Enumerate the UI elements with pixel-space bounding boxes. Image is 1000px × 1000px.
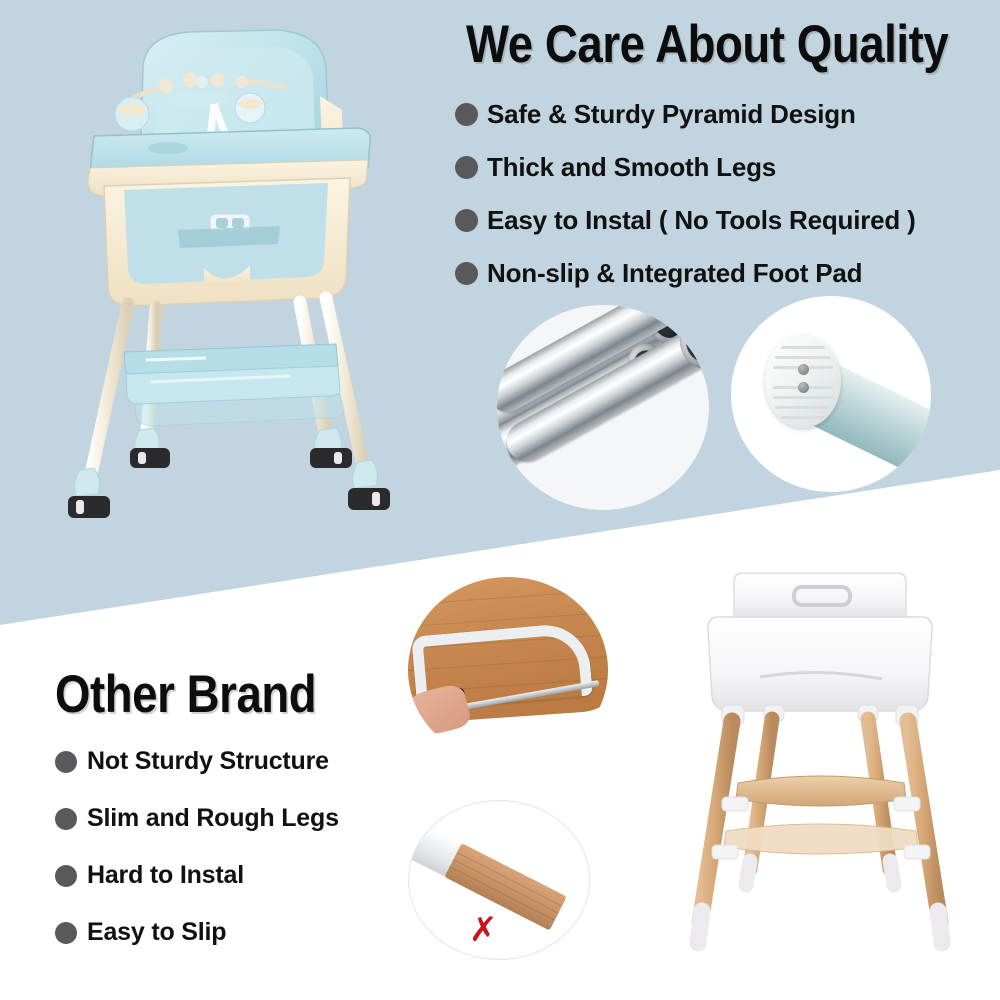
other-brand-high-chair-photo [660, 555, 980, 970]
list-item-label: Non-slip & Integrated Foot Pad [487, 258, 862, 289]
list-item-label: Safe & Sturdy Pyramid Design [487, 99, 856, 130]
list-item: Not Sturdy Structure [55, 733, 425, 790]
section-title-other-brand: Other Brand [55, 664, 316, 725]
bullet-dot-icon [55, 922, 77, 944]
list-item: Slim and Rough Legs [55, 790, 425, 847]
non-slip-pad [765, 334, 841, 428]
bullet-dot-icon [55, 751, 77, 773]
quality-feature-list: Safe & Sturdy Pyramid Design Thick and S… [455, 88, 955, 300]
list-item: Non-slip & Integrated Foot Pad [455, 247, 955, 300]
list-item-label: Hard to Instal [87, 861, 244, 890]
blue-high-chair-photo [28, 18, 428, 548]
screw-hole-icon [798, 382, 809, 393]
red-x-mark-icon: ✗ [469, 913, 498, 947]
bullet-dot-icon [55, 808, 77, 830]
steel-tubes-inset [497, 305, 709, 510]
list-item: Thick and Smooth Legs [455, 141, 955, 194]
bullet-dot-icon [455, 103, 478, 126]
infographic-canvas: We Care About Quality Safe & Sturdy Pyra… [0, 0, 1000, 1000]
bullet-dot-icon [455, 156, 478, 179]
foot-pad-inset [731, 296, 931, 492]
list-item: Safe & Sturdy Pyramid Design [455, 88, 955, 141]
blue-high-chair-illustration [28, 18, 428, 548]
list-item-label: Not Sturdy Structure [87, 747, 329, 776]
list-item-label: Thick and Smooth Legs [487, 152, 776, 183]
list-item: Easy to Instal ( No Tools Required ) [455, 194, 955, 247]
bullet-dot-icon [455, 209, 478, 232]
list-item: Hard to Instal [55, 847, 425, 904]
bullet-dot-icon [455, 262, 478, 285]
screw-hole-icon [798, 364, 809, 375]
other-brand-drawback-list: Not Sturdy Structure Slim and Rough Legs… [55, 733, 425, 961]
page-title-we-care-about-quality: We Care About Quality [466, 14, 948, 75]
hacksaw-cutting-wood-inset [408, 577, 608, 763]
wooden-high-chair-illustration [660, 555, 980, 970]
list-item-label: Easy to Instal ( No Tools Required ) [487, 205, 916, 236]
slim-wooden-leg-inset: ✗ [408, 800, 590, 960]
wooden-leg [444, 843, 566, 930]
list-item-label: Slim and Rough Legs [87, 804, 339, 833]
list-item-label: Easy to Slip [87, 918, 226, 947]
bullet-dot-icon [55, 865, 77, 887]
list-item: Easy to Slip [55, 904, 425, 961]
